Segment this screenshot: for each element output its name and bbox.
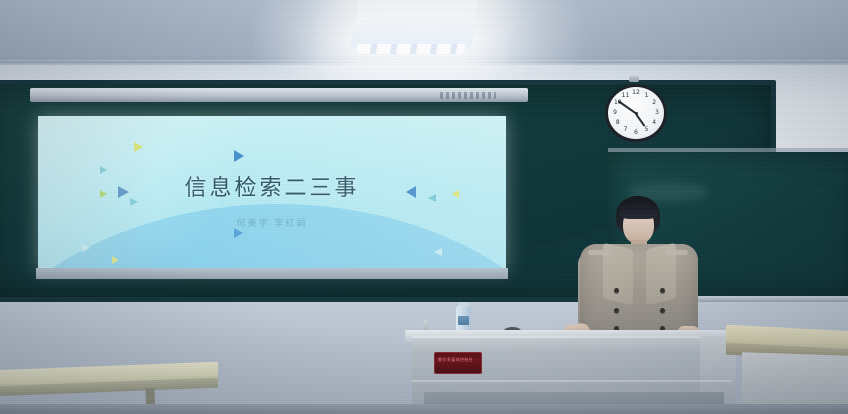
triangle-yellow-lower-left-icon [112, 256, 119, 264]
floor [0, 404, 848, 414]
projector-brand-label [440, 92, 496, 99]
triangle-white-lower-left-icon [82, 244, 90, 252]
coat-button [614, 288, 619, 293]
podium-plaque-text: 教学多媒体控制台 [438, 357, 478, 362]
podium-plaque: 教学多媒体控制台 [434, 352, 482, 374]
clock-numeral-3: 3 [655, 110, 659, 116]
clock-numeral-11: 11 [622, 93, 630, 99]
slide-title: 信息检索二三事 [38, 170, 506, 202]
clock-numeral-2: 2 [652, 100, 656, 106]
projection-screen: 信息检索二三事 何美学 李红娟 [38, 116, 506, 271]
triangle-blue-center-top-icon [234, 150, 244, 162]
ceiling-fluorescent-tube-icon [351, 0, 481, 48]
clock-numeral-4: 4 [652, 120, 656, 126]
wall-clock: 121234567891011 [605, 84, 667, 142]
clock-mount [629, 76, 639, 82]
triangle-blue-lower-center-icon [234, 228, 243, 238]
coat-button [614, 308, 619, 313]
clock-numeral-8: 8 [616, 120, 620, 126]
clock-numeral-5: 5 [645, 127, 649, 133]
coat-button [660, 308, 665, 313]
projector-screen-bottom-bar [36, 268, 508, 279]
presenter-epaulette-right [666, 250, 688, 255]
clock-minute-hand [618, 101, 637, 115]
classroom-photo: 信息检索二三事 何美学 李红娟 121234567891011 [0, 0, 848, 414]
presenter-epaulette-left [588, 250, 610, 255]
clock-numeral-12: 12 [632, 90, 640, 96]
podium-seam [412, 380, 732, 382]
ceiling-seam [0, 58, 848, 61]
slide-arc-shape [38, 204, 506, 271]
water-bottle-label [458, 316, 469, 325]
clock-numeral-6: 6 [634, 130, 638, 136]
triangle-yellow-upper-left-icon [134, 142, 143, 152]
triangle-white-lower-right-icon [434, 248, 442, 256]
clock-numeral-9: 9 [613, 110, 617, 116]
presenter [556, 196, 716, 348]
clock-numeral-7: 7 [624, 127, 628, 133]
clock-hour-hand [635, 113, 645, 126]
clock-numeral-1: 1 [645, 93, 649, 99]
slide-subtitle: 何美学 李红娟 [38, 216, 506, 229]
wall-rail [0, 62, 848, 67]
clock-center-pin [635, 112, 638, 115]
presenter-hair-fringe [619, 202, 658, 219]
coat-button [660, 288, 665, 293]
